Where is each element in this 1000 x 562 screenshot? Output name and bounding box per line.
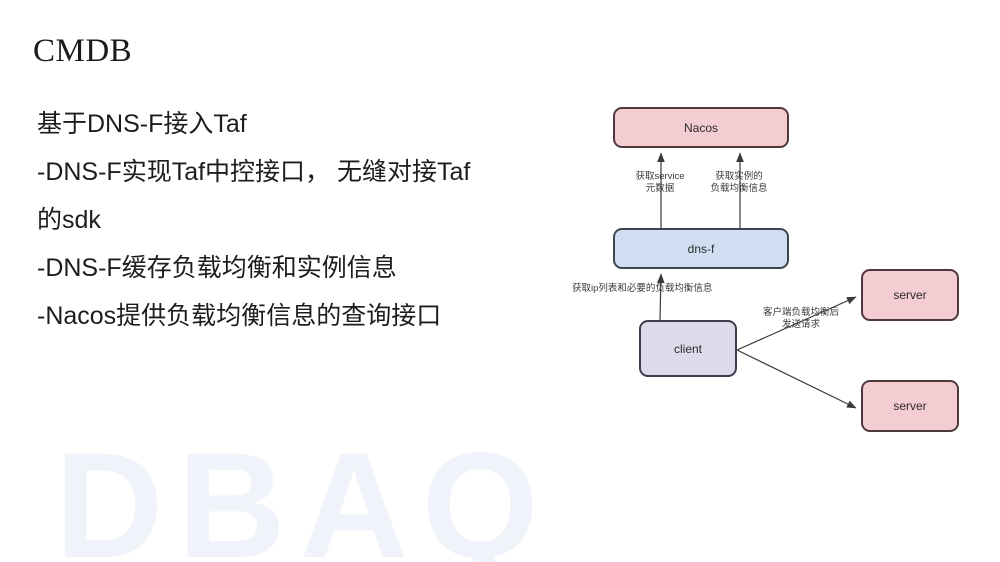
edge-label-line: 客户端负载均衡后 [745, 307, 857, 319]
arrow-client-to-server2 [737, 350, 856, 408]
node-server-1-label: server [893, 288, 926, 302]
arrow-client-to-dnsf [660, 274, 661, 320]
node-dns-f[interactable]: dns-f [613, 228, 789, 269]
node-server-1[interactable]: server [861, 269, 959, 321]
edge-label-line: 获取实例的 [700, 171, 778, 183]
edge-label-get-instance-loadbalance: 获取实例的 负载均衡信息 [700, 171, 778, 195]
edge-label-get-ip-list: 获取ip列表和必要的负载均衡信息 [572, 283, 792, 295]
node-nacos-label: Nacos [684, 121, 718, 135]
node-client[interactable]: client [639, 320, 737, 377]
node-nacos[interactable]: Nacos [613, 107, 789, 148]
edge-label-line: 负载均衡信息 [700, 183, 778, 195]
node-server-2-label: server [893, 399, 926, 413]
architecture-diagram: Nacos dns-f client server server 获取servi… [0, 0, 1000, 562]
edge-label-get-service-metadata: 获取service 元数据 [625, 171, 695, 195]
node-client-label: client [674, 342, 702, 356]
diagram-arrows [0, 0, 1000, 562]
slide-canvas: DBAQ CMDB 基于DNS-F接入Taf -DNS-F实现Taf中控接口， … [0, 0, 1000, 562]
node-server-2[interactable]: server [861, 380, 959, 432]
edge-label-line: 发送请求 [745, 319, 857, 331]
edge-label-line: 元数据 [625, 183, 695, 195]
edge-label-line: 获取service [625, 171, 695, 183]
edge-label-client-send-request: 客户端负载均衡后 发送请求 [745, 307, 857, 331]
node-dns-f-label: dns-f [688, 242, 715, 256]
